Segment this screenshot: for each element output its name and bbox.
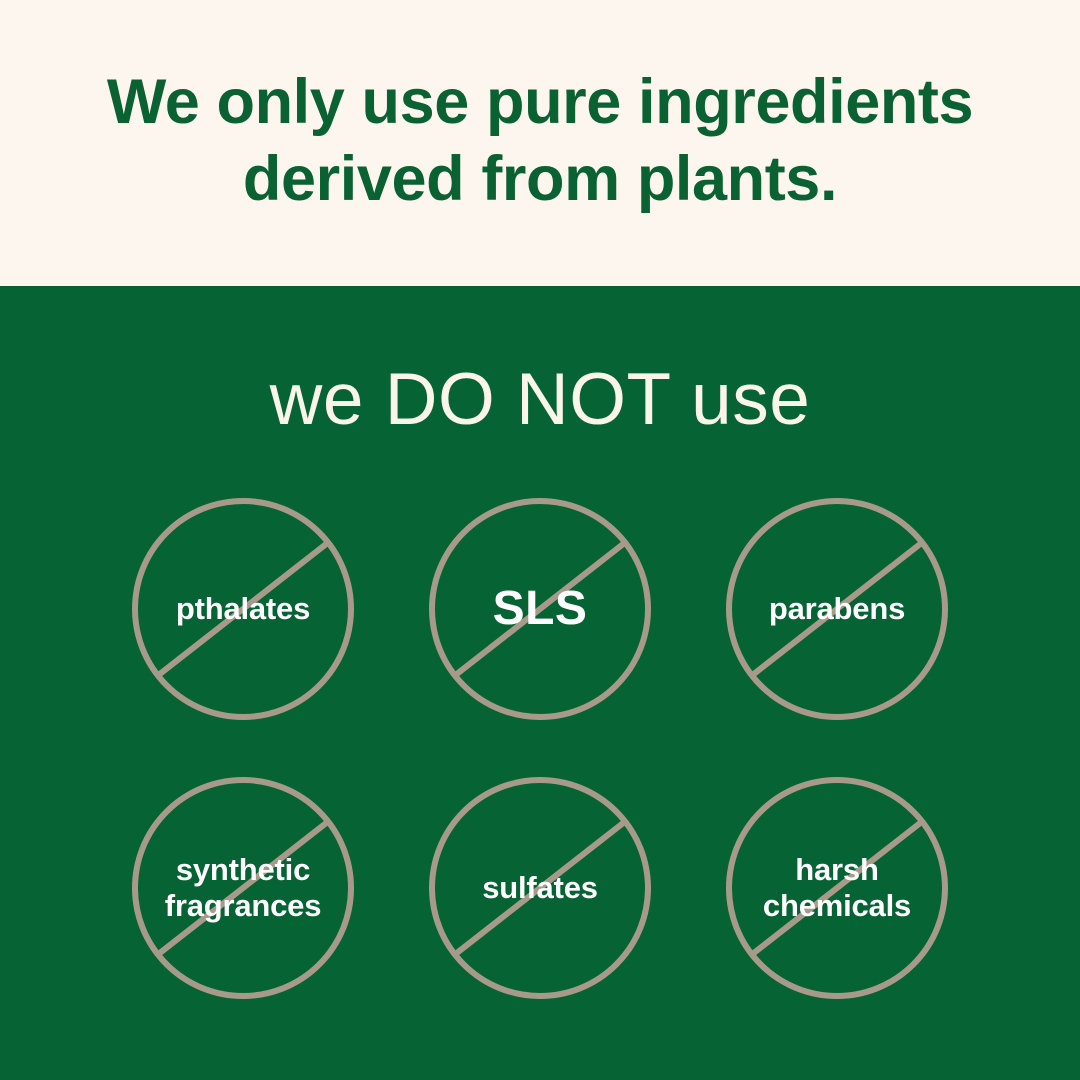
prohibited-ingredient-grid: pthalates SLS parabens synthetic fragran… — [132, 498, 948, 999]
prohibited-badge: sulfates — [429, 777, 651, 999]
prohibited-badge: parabens — [726, 498, 948, 720]
prohibited-badge-label: synthetic fragrances — [157, 852, 330, 924]
prohibited-badge-label: sulfates — [474, 870, 606, 906]
prohibited-badge: pthalates — [132, 498, 354, 720]
prohibited-badge-label: harsh chemicals — [755, 852, 919, 924]
prohibited-badge: SLS — [429, 498, 651, 720]
banner-headline: We only use pure ingredients derived fro… — [107, 64, 973, 219]
banner-section: We only use pure ingredients derived fro… — [0, 0, 1080, 286]
prohibited-badge-label: parabens — [761, 591, 913, 627]
promo-card: We only use pure ingredients derived fro… — [0, 0, 1080, 1080]
section-heading: we DO NOT use — [270, 363, 811, 436]
prohibited-badge: synthetic fragrances — [132, 777, 354, 999]
prohibited-badge-label: SLS — [485, 581, 596, 637]
prohibited-badge-label: pthalates — [168, 591, 318, 627]
do-not-use-section: we DO NOT use pthalates SLS parabens — [0, 286, 1080, 1080]
prohibited-badge: harsh chemicals — [726, 777, 948, 999]
